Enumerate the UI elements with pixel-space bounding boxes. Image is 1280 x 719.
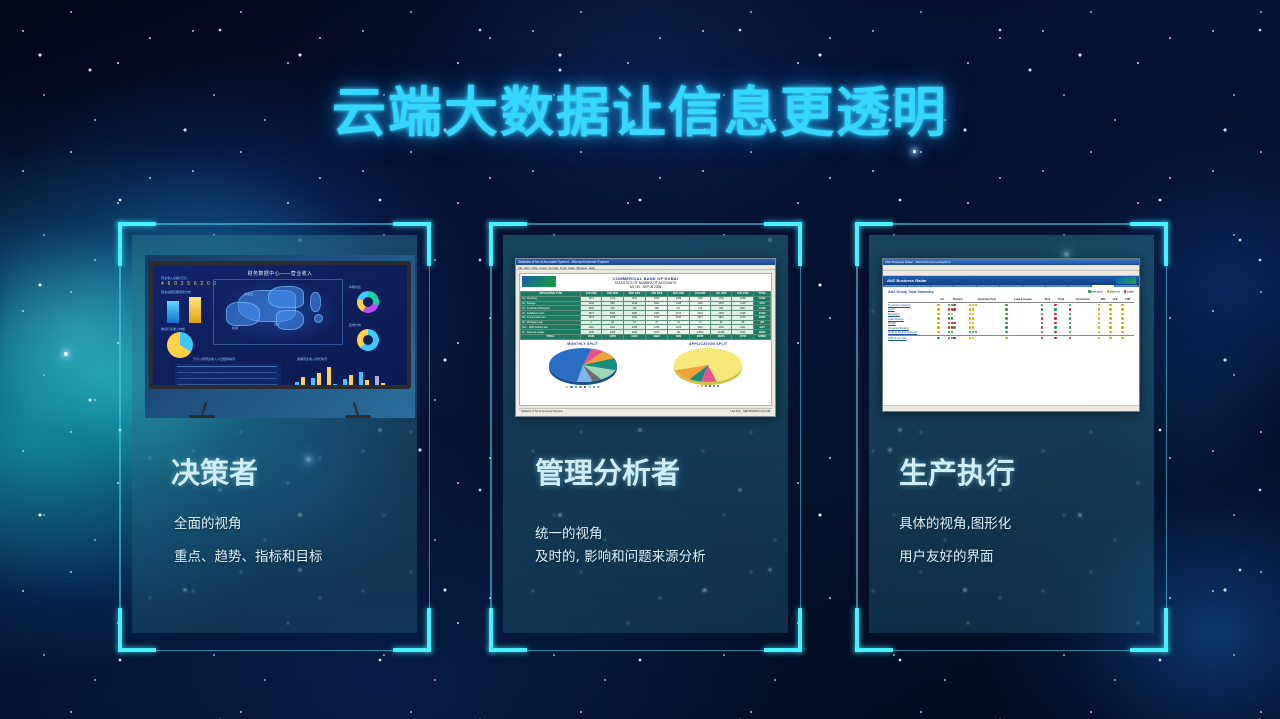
card-management-analyst[interactable]: Statistics of No of Accounts Opened - Mi… [489, 222, 802, 652]
legend-watch-out: watch out [1106, 290, 1119, 293]
tv-bottom-section: 分子公司营业收入人员结构情况 各期营业收入增长情况 [157, 357, 403, 385]
thumbnail-anz-business-radar[interactable]: ANZ Business Radar - Microsoft Internet … [882, 258, 1140, 412]
tv-bottom-chart-title: 各期营业收入增长情况 [297, 357, 327, 361]
card-decision-maker[interactable]: 财务数据中心——营业收入 营业收入总额(万元) 4 6 0 2 5 6 2 0 … [118, 222, 431, 652]
card-bullet-2: 用户友好的界面 [899, 545, 994, 565]
tv-stand-right [353, 402, 359, 416]
tv-map-label: 内蒙古 [244, 292, 253, 296]
table-total-row: ANZ Group Total [888, 336, 1134, 341]
tv-right-donut-bottom [357, 329, 379, 351]
thumbnail-bank-statistics[interactable]: Statistics of No of Accounts Opened - Mi… [515, 258, 776, 417]
tv-map-label: 新疆 [232, 326, 238, 330]
card-bullet-1: 统一的视角 [535, 522, 603, 542]
browser-statusbar [883, 405, 1139, 411]
tv-left-bar-group [163, 297, 207, 323]
application-split-legend [646, 385, 772, 387]
tv-panel-label-right: 本期对比 [349, 285, 361, 289]
card-bullet-2: 重点、趋势、指标和目标 [174, 545, 323, 565]
status-text: Last Run : SEP/06/2006 12:03 AM [730, 410, 770, 413]
tv-kpi-number: 4 6 0 2 5 6 2 0 0 [161, 281, 218, 287]
card-bullet-2: 及时的, 影响和问题来源分析 [535, 545, 706, 565]
card-heading: 生产执行 [899, 450, 1015, 492]
chart-right-title: APPLICATION SPLIT [646, 342, 772, 346]
bank-logo [522, 276, 556, 287]
sheet-tab[interactable]: Statistics of No of Accounts Opened [521, 410, 562, 413]
legend-trouble: trouble [1124, 290, 1134, 293]
status-legend: looks good watch out trouble [1088, 290, 1134, 293]
glow-star [64, 352, 68, 356]
app-title: ANZ Business Radar [887, 278, 927, 283]
glow-star [913, 150, 916, 153]
tv-left-pie [167, 332, 193, 358]
card-production-execution[interactable]: ANZ Business Radar - Microsoft Internet … [855, 222, 1168, 652]
tv-right-donut-top [357, 291, 379, 313]
thumbnail-tv-dashboard[interactable]: 财务数据中心——营业收入 营业收入总额(万元) 4 6 0 2 5 6 2 0 … [145, 255, 415, 418]
tv-bottom-table-title: 分子公司营业收入人员结构情况 [193, 357, 235, 361]
tv-map-label: 四川 [274, 322, 280, 326]
monthly-split-legend [520, 386, 646, 388]
window-statusbar: Statistics of No of Accounts Opened Last… [519, 408, 772, 414]
tv-panel-label-right2: 区域分布 [349, 323, 361, 327]
slide-stage: 云端大数据让信息更透明 财务数据中心——营业收入 营业收入总额(万元) 4 6 … [0, 0, 1280, 719]
radar-content: ANZ Group Total Summary looks good watch… [883, 287, 1139, 404]
monthly-split-pie [549, 348, 617, 382]
tv-stand-left [201, 402, 207, 416]
tv-foot-right [345, 415, 371, 418]
tv-panel-label-left: 营业总额近期走势分布 [161, 290, 191, 294]
application-split-pie [674, 348, 742, 382]
bank-name: COMMERCIAL BANK OF DUBAI [520, 274, 771, 281]
card-heading: 决策者 [171, 450, 258, 492]
accounts-table: APPLICATION TYPE JAN 2006 FEB 2006 MAR 2… [520, 291, 771, 340]
legend-looks-good: looks good [1088, 290, 1103, 293]
table-total-row: TOTAL 1608011859110151392184892906520374… [521, 335, 771, 340]
card-bullet-1: 具体的视角,图形化 [899, 512, 1011, 532]
page-title: 云端大数据让信息更透明 [0, 68, 1280, 147]
app-banner: ANZ Business Radar [883, 276, 1139, 285]
chart-left-title: MONTHLY SPLIT [520, 342, 646, 346]
report-as-on: AS ON : SEP 06 2006 [520, 285, 771, 289]
report-body: COMMERCIAL BANK OF DUBAI STATISTICS OF N… [519, 273, 772, 406]
radar-table: CX Perform Customer First Lead & Inspire… [888, 297, 1134, 341]
tv-bottom-bar-chart [291, 365, 391, 385]
summary-title: ANZ Group Total Summary [888, 290, 934, 294]
card-bullet-1: 全面的视角 [174, 512, 242, 532]
tv-kpi-caption: 营业收入总额(万元) [161, 276, 187, 280]
tv-panel-label-pie: 重点行业收入构成 [161, 327, 185, 331]
window-menubar[interactable]: File Edit View Insert Format Tools Data … [516, 265, 775, 270]
tv-bottom-table [175, 364, 281, 385]
anz-logo [1116, 277, 1136, 284]
card-heading: 管理分析者 [535, 450, 680, 492]
tv-foot-left [189, 415, 215, 418]
tv-screen-title: 财务数据中心——营业收入 [153, 270, 407, 277]
tv-map: 内蒙古 四川 新疆 [213, 279, 343, 345]
